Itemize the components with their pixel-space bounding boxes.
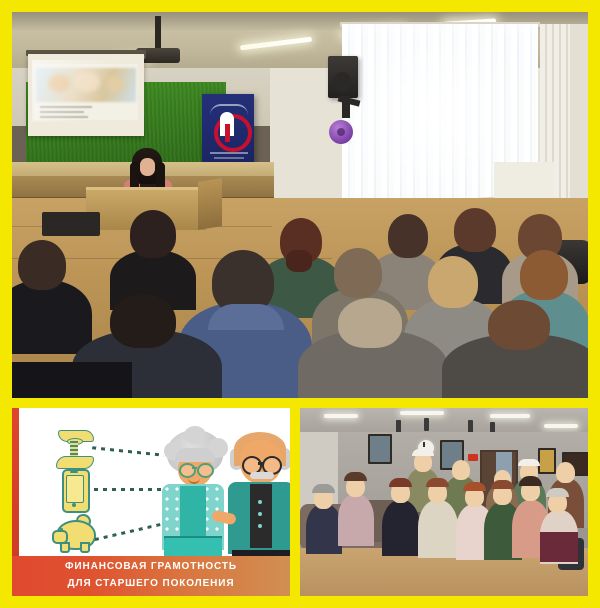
ceiling <box>300 408 588 434</box>
coin-stack <box>70 441 78 457</box>
speaker-cone <box>333 72 351 92</box>
financial-literacy-poster: ФИНАНСОВАЯ ГРАМОТНОСТЬ ДЛЯ СТАРШЕГО ПОКО… <box>12 408 290 596</box>
poster-title-line2: ДЛЯ СТАРШЕГО ПОКОЛЕНИЯ <box>12 575 290 592</box>
framed-picture <box>538 448 556 474</box>
receiving-hand-icon <box>56 456 94 469</box>
elderly-man-moustache <box>250 472 274 479</box>
poster-title-line1: ФИНАНСОВАЯ ГРАМОТНОСТЬ <box>12 558 290 575</box>
cardigan-button <box>258 524 262 528</box>
exit-sign <box>468 454 478 461</box>
poster-red-stripe <box>12 408 19 556</box>
projector-mount <box>155 16 161 50</box>
clock-hands <box>423 442 425 447</box>
hair-curl <box>184 426 206 444</box>
piggy-bank-eye <box>60 528 63 531</box>
banner-caption-line <box>210 152 248 154</box>
elderly-woman-blouse <box>180 486 206 542</box>
glasses-bridge <box>258 462 263 465</box>
banner-arc-text <box>210 104 248 115</box>
foreground-silhouette <box>12 362 132 398</box>
framed-picture <box>368 434 392 464</box>
banner-caption-line <box>214 157 244 159</box>
ceiling-light <box>544 424 578 428</box>
ceiling-light <box>490 414 530 418</box>
smartphone-screen <box>66 475 84 503</box>
presenter-face <box>140 158 155 176</box>
group-photo <box>300 408 588 596</box>
piggy-bank-leg <box>60 542 70 553</box>
smartphone-home-button <box>72 503 76 507</box>
seminar-hall-photo <box>12 12 588 398</box>
pompom-center <box>337 128 345 136</box>
cardigan-button <box>258 500 262 504</box>
dotted-connector <box>94 488 166 491</box>
screen-glare <box>32 60 142 122</box>
ceiling-light <box>400 411 444 415</box>
elderly-woman-bangs <box>175 448 215 462</box>
glasses-bridge <box>192 467 197 469</box>
elderly-man-shirt <box>250 484 272 548</box>
speaker-bracket-post <box>342 96 350 118</box>
podium-side <box>198 178 222 230</box>
podium-equipment <box>42 212 100 236</box>
cardigan-button <box>258 512 262 516</box>
photo-collage: ФИНАНСОВАЯ ГРАМОТНОСТЬ ДЛЯ СТАРШЕГО ПОКО… <box>0 0 600 608</box>
poster-caption: ФИНАНСОВАЯ ГРАМОТНОСТЬ ДЛЯ СТАРШЕГО ПОКО… <box>12 558 290 592</box>
ceiling-light <box>324 414 358 418</box>
smartphone-speaker <box>70 471 78 473</box>
wall-column <box>568 24 588 224</box>
track-light <box>424 418 429 431</box>
piggy-bank-leg <box>80 542 90 553</box>
banner-logo-stem <box>225 124 230 142</box>
